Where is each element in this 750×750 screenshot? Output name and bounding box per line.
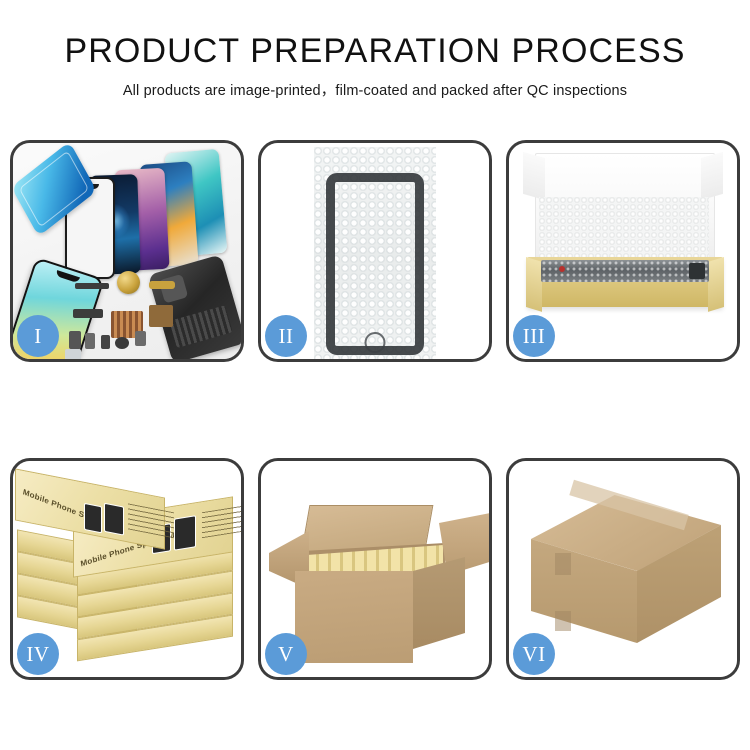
box-lid-flap-right	[701, 152, 723, 200]
step-badge-4: IV	[17, 633, 59, 675]
sim-tray-part	[85, 333, 95, 349]
box-artwork-screen	[84, 503, 102, 533]
carton-handle-tab-upper	[555, 553, 571, 575]
process-step-3[interactable]: III	[506, 140, 740, 362]
box-artwork-screen	[104, 503, 124, 536]
process-step-2[interactable]: II	[258, 140, 492, 362]
speaker-part-icon	[117, 271, 140, 294]
page-subtitle: All products are image-printed，film-coat…	[0, 79, 750, 100]
process-step-grid: I II III	[10, 140, 740, 680]
carton-front-face	[295, 571, 413, 663]
panel-1-image: I	[13, 143, 241, 359]
taptic-part	[115, 337, 129, 349]
tray-lip-right	[708, 257, 724, 312]
panel-4-image: Mobile Phone Spare Parts Mobile Phone Sp…	[13, 461, 241, 677]
wrapped-screen-frame	[326, 173, 424, 355]
bubble-wrap-sheet	[314, 147, 436, 359]
vibrator-part	[101, 335, 110, 349]
step-badge-6: VI	[513, 633, 555, 675]
tool-part	[65, 349, 81, 359]
step-badge-3: III	[513, 315, 555, 357]
flex-cable-part	[75, 283, 109, 289]
process-step-6[interactable]: VI	[506, 458, 740, 680]
carton-handle-tab-lower	[555, 611, 571, 631]
page-header: PRODUCT PREPARATION PROCESS All products…	[0, 0, 750, 100]
panel-2-image: II	[261, 143, 489, 359]
step-badge-1: I	[17, 315, 59, 357]
box-artwork-screen	[174, 515, 196, 550]
process-step-5[interactable]: V	[258, 458, 492, 680]
kraft-tray-box	[527, 257, 723, 307]
panel-5-image: V	[261, 461, 489, 677]
step-badge-5: V	[265, 633, 307, 675]
panel-3-image: III	[509, 143, 737, 359]
screw-set-part	[135, 331, 146, 346]
step-badge-2: II	[265, 315, 307, 357]
box-lid-flap-left	[523, 152, 545, 200]
process-step-1[interactable]: I	[10, 140, 244, 362]
process-step-4[interactable]: Mobile Phone Spare Parts Mobile Phone Sp…	[10, 458, 244, 680]
gold-connector-part	[149, 281, 175, 289]
button-part	[69, 331, 81, 349]
carton-side-face	[413, 557, 465, 649]
tray-label-dot	[559, 266, 565, 272]
panel-6-image: VI	[509, 461, 737, 677]
foam-lining	[539, 197, 709, 263]
logic-board-part	[149, 305, 173, 327]
page-title: PRODUCT PREPARATION PROCESS	[0, 34, 750, 70]
tray-lip-left	[526, 257, 542, 312]
packed-screen-in-tray	[541, 260, 709, 282]
camera-module-part	[73, 309, 103, 318]
